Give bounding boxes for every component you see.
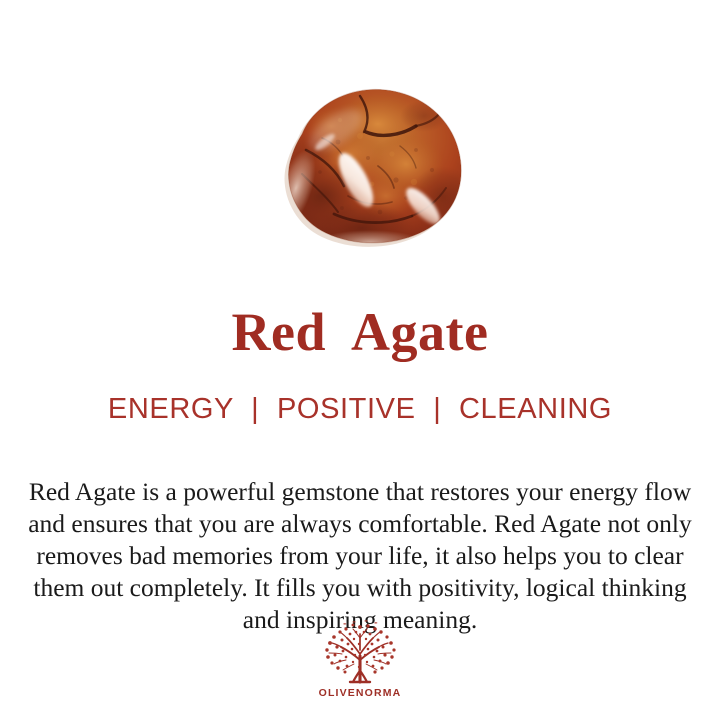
- red-agate-stone-illustration: [210, 46, 510, 276]
- attribute-separator: |: [242, 392, 268, 426]
- brand-name: OLIVENORMA: [0, 687, 720, 699]
- product-info-card: Red Agate ENERGY | POSITIVE | CLEANING R…: [0, 0, 720, 720]
- tree-of-life-icon: [312, 620, 408, 686]
- attribute-separator: |: [424, 392, 450, 426]
- attribute-cleaning: CLEANING: [459, 393, 612, 425]
- attribute-positive: POSITIVE: [277, 393, 416, 425]
- attribute-energy: ENERGY: [108, 393, 234, 425]
- brand-logo: OLIVENORMA: [0, 620, 720, 699]
- gemstone-image: [0, 46, 720, 276]
- page-title: Red Agate: [0, 301, 720, 363]
- product-description: Red Agate is a powerful gemstone that re…: [18, 476, 702, 636]
- attribute-list: ENERGY | POSITIVE | CLEANING: [0, 392, 720, 426]
